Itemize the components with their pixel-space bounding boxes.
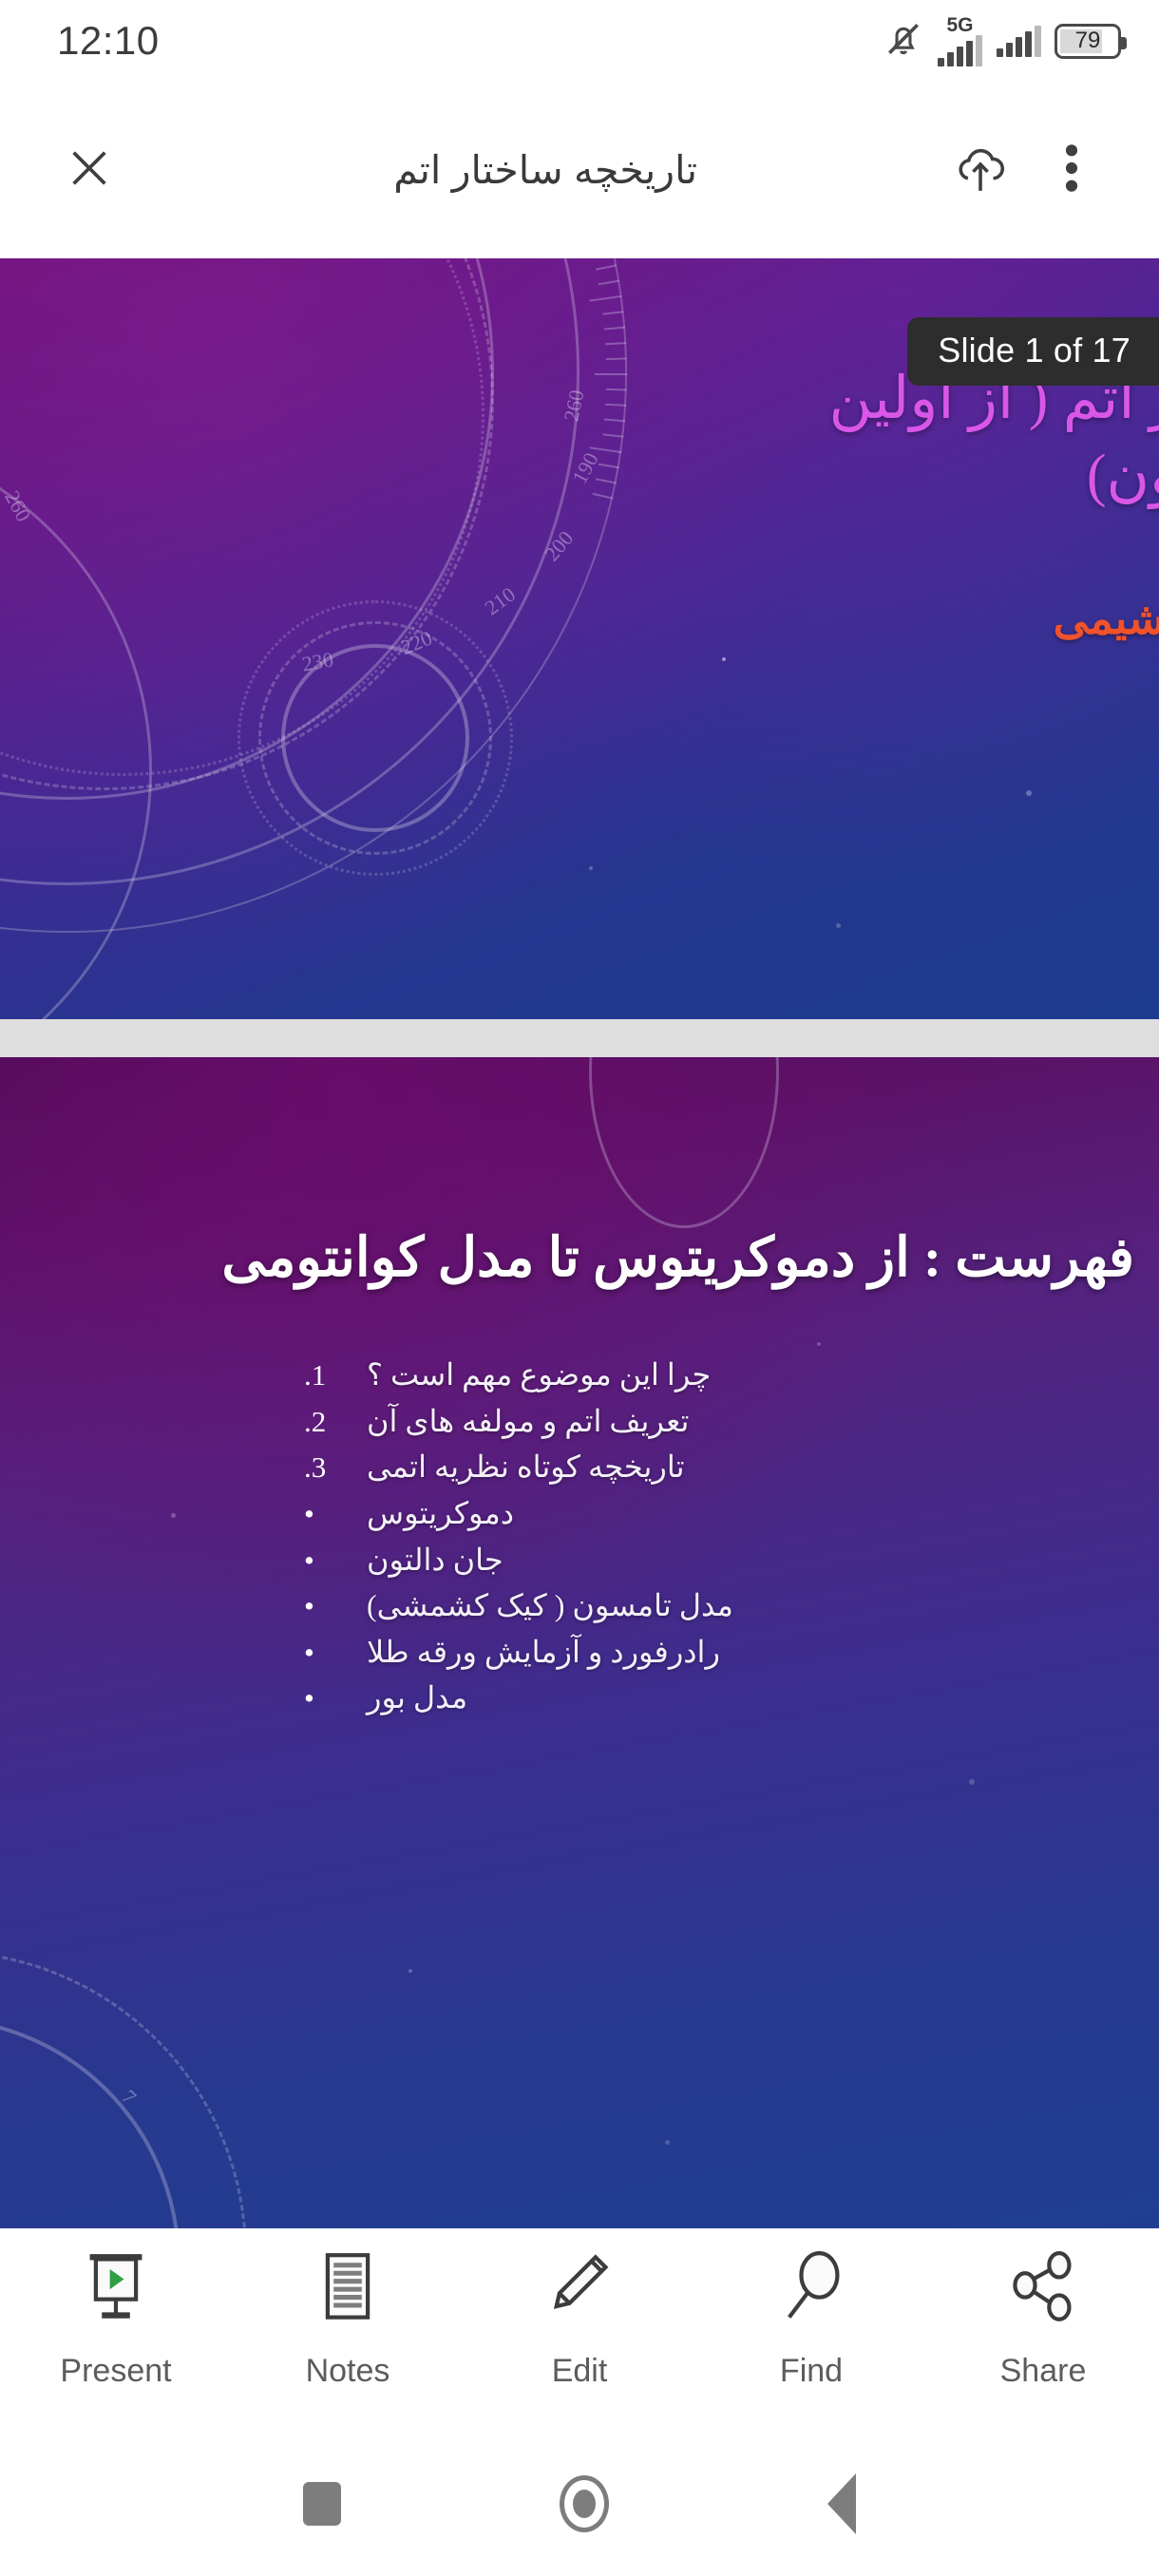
phone-screen: 12:10 5G (0, 0, 1159, 2576)
slide-2[interactable]: 7 فهرست : از دموکریتوس تا مدل کوانتومی 1… (0, 1057, 1159, 2228)
bell-off-icon (883, 17, 924, 66)
list-text: مدل تامسون ( کیک کشمشی) (367, 1582, 733, 1629)
circle-icon[interactable] (560, 2475, 609, 2532)
slide-1-subtitle: شیمی (310, 593, 1159, 644)
list-text: جان دالتون (367, 1537, 503, 1583)
find-button[interactable]: Find (712, 2251, 911, 2390)
close-icon (63, 142, 116, 199)
list-marker: • (304, 1538, 342, 1582)
triangle-back-icon[interactable] (827, 2473, 856, 2534)
list-marker: • (304, 1583, 342, 1628)
bottom-action-bar: Present Notes (0, 2228, 1159, 2432)
list-item: • جان دالتون (304, 1537, 836, 1583)
upload-button[interactable] (935, 124, 1026, 216)
more-vertical-icon (1065, 142, 1078, 199)
battery-level-label: 79 (1075, 28, 1101, 54)
status-bar: 12:10 5G (0, 0, 1159, 82)
square-icon[interactable] (303, 2482, 341, 2526)
app-toolbar: تاریخچه ساختار اتم (0, 82, 1159, 258)
list-marker: 2. (304, 1399, 342, 1444)
slide-1-title-line2: ون) (1087, 444, 1159, 508)
slide-2-content: 1. چرا این موضوع مهم است ؟ 2. تعریف اتم … (304, 1352, 836, 1721)
notes-button[interactable]: Notes (248, 2251, 447, 2390)
close-button[interactable] (44, 124, 135, 216)
list-item: • رادرفورد و آزمایش ورقه طلا (304, 1629, 836, 1676)
overflow-menu-button[interactable] (1026, 124, 1117, 216)
share-icon (1010, 2251, 1076, 2328)
status-icon-group: 5G 79 (883, 16, 1121, 66)
list-item: • مدل تامسون ( کیک کشمشی) (304, 1582, 836, 1629)
present-icon (82, 2251, 150, 2328)
notes-icon (319, 2251, 376, 2328)
signal-icon (997, 26, 1041, 57)
slide-1[interactable]: 260 190 200 210 220 230 260 ر اتم ( از ا… (0, 258, 1159, 1019)
list-marker: • (304, 1630, 342, 1675)
list-text: چرا این موضوع مهم است ؟ (367, 1352, 711, 1398)
slide-counter-tooltip: Slide 1 of 17 (907, 317, 1159, 386)
edit-button[interactable]: Edit (480, 2251, 679, 2390)
list-text: تاریخچه کوتاه نظریه اتمی (367, 1444, 685, 1490)
list-item: • دموکریتوس (304, 1490, 836, 1537)
edit-label: Edit (552, 2353, 608, 2390)
list-text: تعریف اتم و مولفه های آن (367, 1398, 689, 1445)
list-marker: • (304, 1676, 342, 1720)
signal-5g-icon: 5G (938, 16, 982, 66)
notes-label: Notes (306, 2353, 390, 2390)
android-navigation-bar (0, 2432, 1159, 2576)
status-time: 12:10 (57, 18, 160, 64)
share-button[interactable]: Share (943, 2251, 1143, 2390)
page-title: تاریخچه ساختار اتم (135, 147, 935, 193)
list-item: 2. تعریف اتم و مولفه های آن (304, 1398, 836, 1445)
list-item: 3. تاریخچه کوتاه نظریه اتمی (304, 1444, 836, 1490)
slide-deck[interactable]: 260 190 200 210 220 230 260 ر اتم ( از ا… (0, 258, 1159, 2228)
pencil-icon (546, 2251, 613, 2328)
list-marker: • (304, 1491, 342, 1536)
slide-2-title: فهرست : از دموکریتوس تا مدل کوانتومی (32, 1226, 1134, 1289)
network-type-label: 5G (946, 16, 973, 35)
list-text: رادرفورد و آزمایش ورقه طلا (367, 1629, 720, 1676)
battery-icon: 79 (1054, 24, 1121, 59)
list-marker: 3. (304, 1445, 342, 1489)
present-button[interactable]: Present (16, 2251, 216, 2390)
share-label: Share (1000, 2353, 1087, 2390)
list-item: 1. چرا این موضوع مهم است ؟ (304, 1352, 836, 1398)
list-text: دموکریتوس (367, 1490, 514, 1537)
list-text: مدل بور (367, 1675, 467, 1721)
magnifier-icon (780, 2251, 843, 2328)
present-label: Present (60, 2353, 171, 2390)
list-marker: 1. (304, 1353, 342, 1397)
find-label: Find (780, 2353, 843, 2390)
cloud-upload-icon (951, 142, 1010, 199)
list-item: • مدل بور (304, 1675, 836, 1721)
